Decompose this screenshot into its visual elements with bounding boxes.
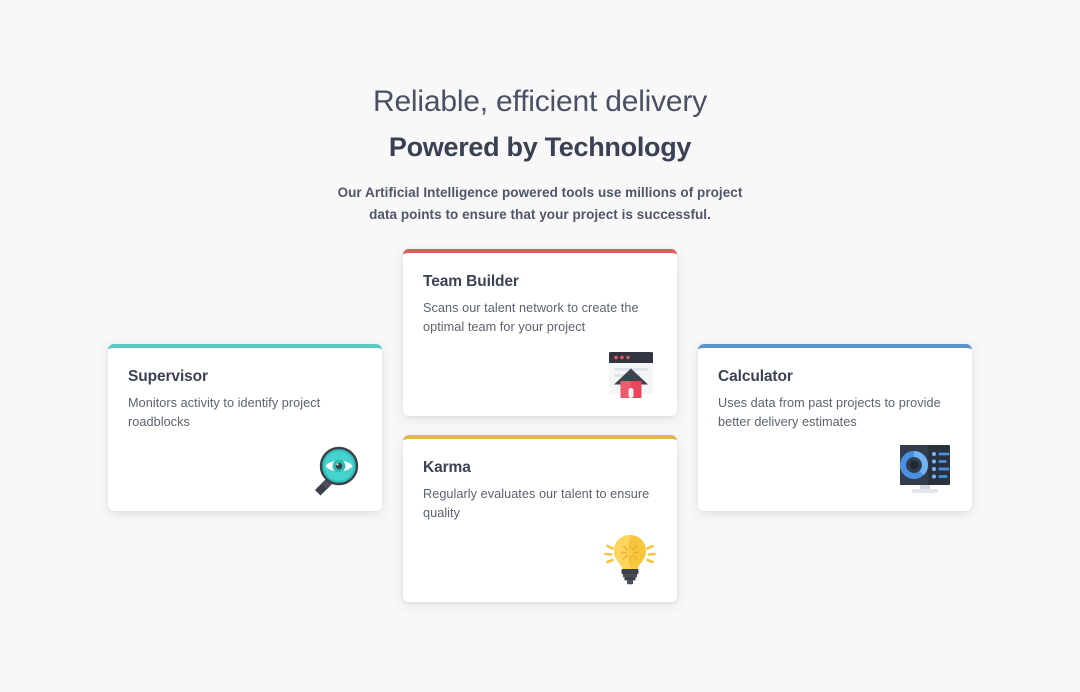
headline-light: Reliable, efficient delivery: [0, 84, 1080, 121]
card-content: Supervisor Monitors activity to identify…: [108, 348, 382, 432]
card-description: Uses data from past projects to provide …: [718, 394, 952, 432]
feature-card-karma[interactable]: Karma Regularly evaluates our talent to …: [403, 435, 677, 602]
feature-card-supervisor[interactable]: Supervisor Monitors activity to identify…: [108, 344, 382, 511]
magnifier-eye-icon: [306, 441, 364, 497]
card-content: Team Builder Scans our talent network to…: [403, 253, 677, 337]
lightbulb-icon: [601, 532, 659, 588]
card-title: Calculator: [718, 368, 952, 387]
monitor-chart-icon: [896, 441, 954, 497]
card-description: Scans our talent network to create the o…: [423, 299, 657, 337]
feature-card-calculator[interactable]: Calculator Uses data from past projects …: [698, 344, 972, 511]
card-content: Calculator Uses data from past projects …: [698, 348, 972, 432]
hero-header: Reliable, efficient delivery Powered by …: [0, 0, 1080, 225]
browser-home-icon: [601, 346, 659, 402]
hero-subheading: Our Artificial Intelligence powered tool…: [325, 182, 755, 226]
card-title: Karma: [423, 459, 657, 478]
card-title: Team Builder: [423, 273, 657, 292]
card-title: Supervisor: [128, 368, 362, 387]
card-content: Karma Regularly evaluates our talent to …: [403, 439, 677, 523]
feature-card-team-builder[interactable]: Team Builder Scans our talent network to…: [403, 249, 677, 416]
card-description: Monitors activity to identify project ro…: [128, 394, 362, 432]
page-title: Powered by Technology: [0, 130, 1080, 165]
card-description: Regularly evaluates our talent to ensure…: [423, 485, 657, 523]
